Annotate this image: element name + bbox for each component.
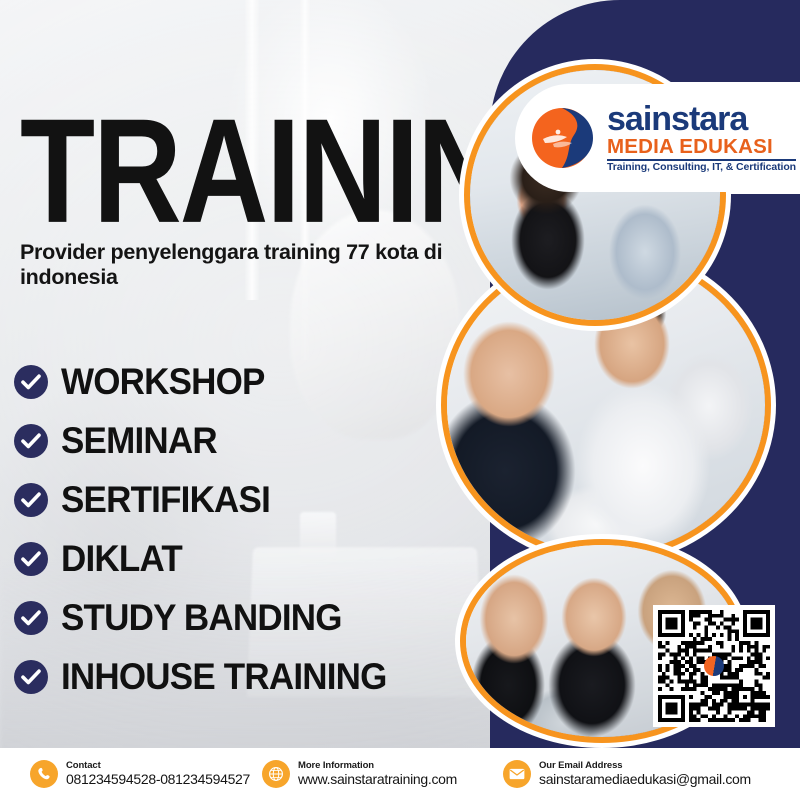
footer-website-text: More Information www.sainstaratraining.c… xyxy=(298,761,457,788)
footer-contact[interactable]: Contact 081234594528-081234594527 xyxy=(30,760,250,788)
footer-email-label: Our Email Address xyxy=(539,761,751,771)
globe-icon xyxy=(262,760,290,788)
service-label: SERTIFIKASI xyxy=(61,481,270,518)
footer-email-text: Our Email Address sainstaramediaedukasi@… xyxy=(539,761,751,788)
footer-contact-label: Contact xyxy=(66,761,250,771)
check-circle-icon xyxy=(14,601,48,635)
list-item: WORKSHOP xyxy=(14,352,484,411)
check-circle-icon xyxy=(14,483,48,517)
check-circle-icon xyxy=(14,424,48,458)
training-poster: TRAINING Provider penyelenggara training… xyxy=(0,0,800,800)
footer-website-value: www.sainstaratraining.com xyxy=(298,771,457,787)
qr-code[interactable] xyxy=(653,605,775,727)
page-subtitle: Provider penyelenggara training 77 kota … xyxy=(20,240,470,291)
service-label: WORKSHOP xyxy=(61,363,265,400)
check-circle-icon xyxy=(14,365,48,399)
check-circle-icon xyxy=(14,542,48,576)
list-item: SEMINAR xyxy=(14,411,484,470)
list-item: INHOUSE TRAINING xyxy=(14,647,484,706)
footer-website[interactable]: More Information www.sainstaratraining.c… xyxy=(262,760,457,788)
phone-icon xyxy=(30,760,58,788)
brand-tagline: Training, Consulting, IT, & Certificatio… xyxy=(607,162,796,173)
brand-logo-text: sainstara MEDIA EDUKASI Training, Consul… xyxy=(607,104,796,173)
service-label: STUDY BANDING xyxy=(61,599,342,636)
brand-name: sainstara xyxy=(607,104,796,135)
service-label: SEMINAR xyxy=(61,422,217,459)
list-item: SERTIFIKASI xyxy=(14,470,484,529)
contact-footer: Contact 081234594528-081234594527 More I… xyxy=(0,748,800,800)
flame-circle-icon xyxy=(529,101,599,175)
envelope-icon xyxy=(503,760,531,788)
brand-subtitle: MEDIA EDUKASI xyxy=(607,137,796,158)
list-item: STUDY BANDING xyxy=(14,588,484,647)
service-label: DIKLAT xyxy=(61,540,182,577)
check-circle-icon xyxy=(14,660,48,694)
footer-contact-text: Contact 081234594528-081234594527 xyxy=(66,761,250,788)
footer-contact-value: 081234594528-081234594527 xyxy=(66,771,250,787)
footer-website-label: More Information xyxy=(298,761,457,771)
footer-email[interactable]: Our Email Address sainstaramediaedukasi@… xyxy=(503,760,751,788)
sainstara-logo-mark xyxy=(704,656,724,676)
service-label: INHOUSE TRAINING xyxy=(61,658,387,695)
brand-logo: sainstara MEDIA EDUKASI Training, Consul… xyxy=(515,84,800,192)
list-item: DIKLAT xyxy=(14,529,484,588)
services-checklist: WORKSHOP SEMINAR SERTIFIKASI DIKLAT STUD… xyxy=(14,352,484,706)
footer-email-value: sainstaramediaedukasi@gmail.com xyxy=(539,771,751,787)
